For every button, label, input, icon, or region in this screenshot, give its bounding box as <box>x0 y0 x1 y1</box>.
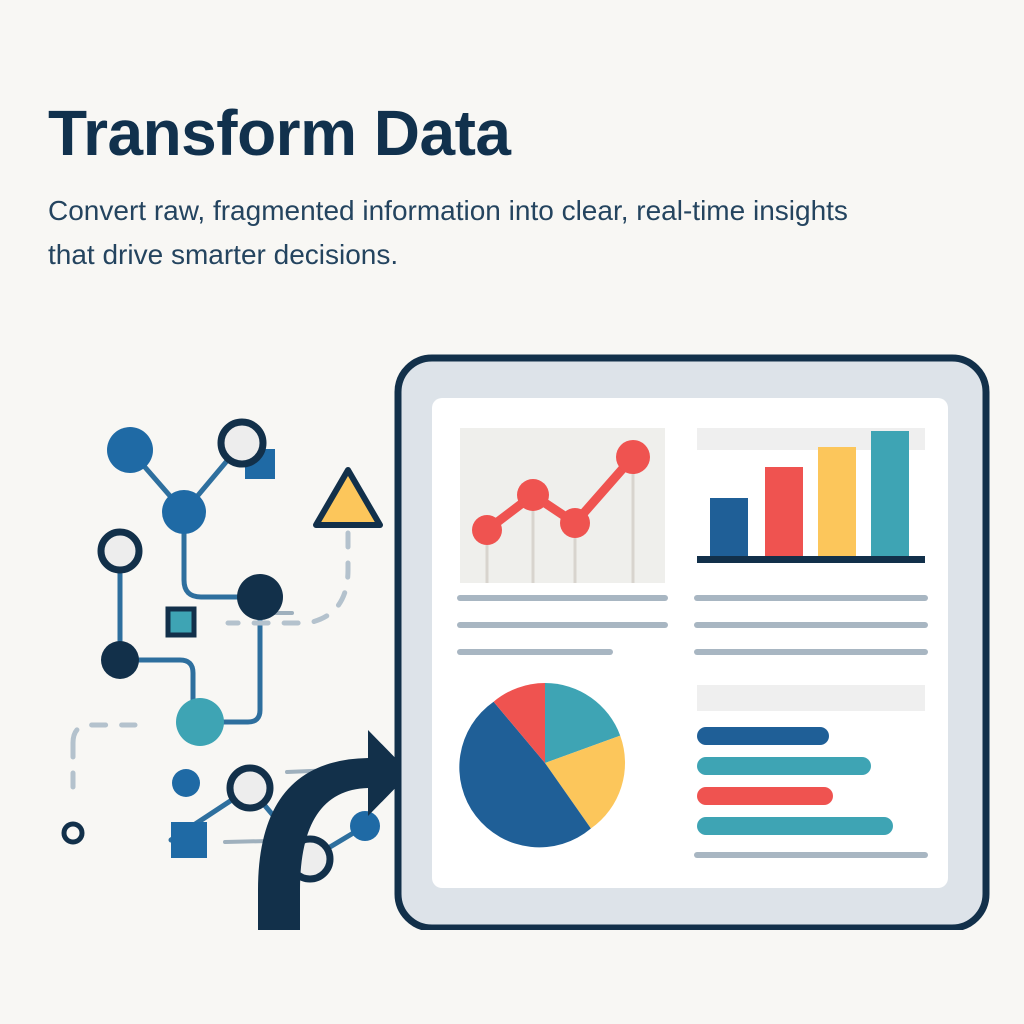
network-node-outline-3 <box>230 768 270 808</box>
bar-chart-baseline <box>697 556 925 563</box>
network-node-navy-2 <box>101 641 139 679</box>
page-title: Transform Data <box>48 100 948 167</box>
network-node-blue-2 <box>162 490 206 534</box>
network-node-outline-2 <box>101 532 139 570</box>
network-node-blue-4 <box>350 811 380 841</box>
network-node-teal-1 <box>176 698 224 746</box>
hbar-3[interactable] <box>697 787 833 805</box>
hbar-4[interactable] <box>697 817 893 835</box>
bar-1[interactable] <box>710 498 748 556</box>
network-node-blue-1 <box>107 427 153 473</box>
trend-line-chart[interactable] <box>460 428 665 583</box>
poster-canvas: Transform Data Convert raw, fragmented i… <box>0 0 1024 1024</box>
hbar-1[interactable] <box>697 727 829 745</box>
arrow-shape <box>258 730 410 930</box>
hbar-2[interactable] <box>697 757 871 775</box>
line-chart-point-4[interactable] <box>616 440 650 474</box>
square-node-blue-bottom <box>171 822 207 858</box>
network-node-navy-1 <box>237 574 283 620</box>
triangle-alert-icon <box>316 470 380 525</box>
line-chart-point-3[interactable] <box>560 508 590 538</box>
network-node-outline-small <box>64 824 82 842</box>
line-chart-point-1[interactable] <box>472 515 502 545</box>
tablet-dashboard[interactable] <box>398 358 986 928</box>
bar-2[interactable] <box>765 467 803 556</box>
network-node-outline-1 <box>221 422 263 464</box>
bar-4[interactable] <box>871 431 909 556</box>
fragmented-data-network <box>64 422 382 879</box>
square-node-teal <box>168 609 194 635</box>
page-subtitle: Convert raw, fragmented information into… <box>48 189 878 276</box>
illustration <box>0 330 1024 930</box>
progress-header-bar <box>697 685 925 711</box>
network-node-blue-3 <box>172 769 200 797</box>
line-chart-point-2[interactable] <box>517 479 549 511</box>
header-block: Transform Data Convert raw, fragmented i… <box>48 100 948 276</box>
dashed-path-left-top <box>73 725 135 743</box>
bar-3[interactable] <box>818 447 856 556</box>
rule-bottom <box>225 841 268 842</box>
curved-transform-arrow <box>258 730 410 930</box>
